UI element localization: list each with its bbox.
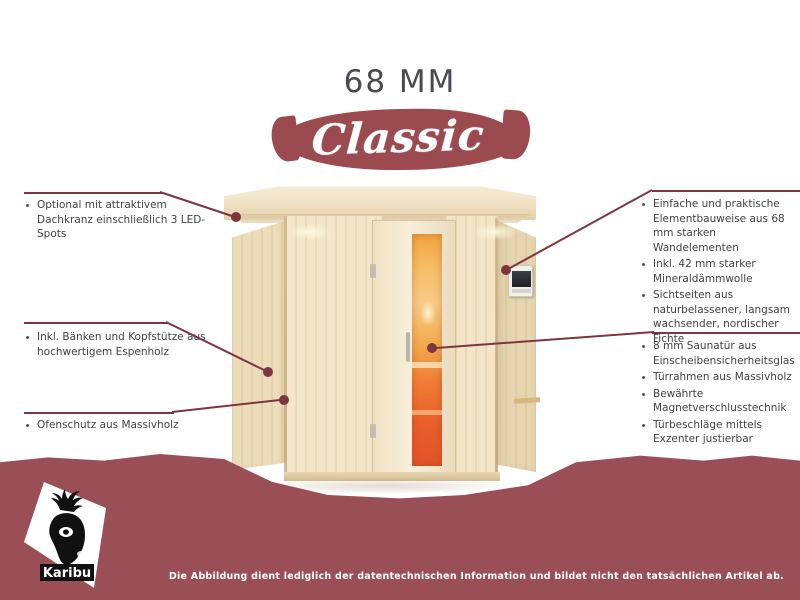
interior-bench-lower (412, 410, 442, 415)
bench-edge (514, 397, 540, 404)
led-spot-left (288, 224, 330, 240)
list-item: Inkl. Bänken und Kopfstütze aus hochwert… (24, 330, 210, 359)
annotation-group-right-1: Einfache und praktische Elementbauweise … (640, 197, 800, 348)
list-item: Türbeschläge mittels Exzenter justierbar (640, 418, 800, 447)
product-infographic: 68 MM Classic (0, 0, 800, 600)
door-hinge-top (370, 264, 376, 278)
karibu-logo: Karibu (14, 480, 110, 592)
interior-bench-upper (412, 362, 442, 368)
disclaimer-text: Die Abbildung dient lediglich der datent… (0, 571, 800, 582)
list-item: Einfache und praktische Elementbauweise … (640, 197, 800, 255)
annotation-list: 8 mm Saunatür aus Einscheibensicherheits… (640, 339, 800, 447)
brush-stroke-banner: Classic (281, 107, 518, 171)
annotation-list: Ofenschutz aus Massivholz (24, 418, 210, 433)
list-item: Optional mit attraktivem Dachkranz einsc… (24, 198, 210, 242)
leader-rule-left-3 (24, 412, 174, 414)
list-item: Bewährte Magnetverschlusstechnik (640, 387, 800, 416)
title-block: 68 MM Classic (0, 64, 800, 170)
door-handle (406, 332, 410, 362)
list-item: Inkl. 42 mm starker Mineraldämmwolle (640, 257, 800, 286)
annotation-list: Optional mit attraktivem Dachkranz einsc… (24, 198, 210, 242)
annotation-group-left-2: Inkl. Bänken und Kopfstütze aus hochwert… (24, 330, 210, 361)
list-item: 8 mm Saunatür aus Einscheibensicherheits… (640, 339, 800, 368)
door-hinge-bottom (370, 424, 376, 438)
annotation-group-left-3: Ofenschutz aus Massivholz (24, 418, 210, 435)
model-badge: Classic (282, 109, 518, 170)
annotation-group-left-1: Optional mit attraktivem Dachkranz einsc… (24, 198, 210, 244)
leader-line-right-1 (498, 186, 658, 276)
page-title-thickness: 68 MM (0, 64, 800, 100)
leader-rule-right-1 (652, 190, 800, 192)
list-item: Ofenschutz aus Massivholz (24, 418, 210, 433)
leader-rule-left-2 (24, 322, 168, 324)
leader-line-right-2 (424, 328, 660, 356)
leader-rule-left-1 (24, 192, 162, 194)
list-item: Sichtseiten aus naturbelassener, langsam… (640, 288, 800, 346)
deer-head-icon: Karibu (14, 480, 110, 592)
annotation-group-right-2: 8 mm Saunatür aus Einscheibensicherheits… (640, 339, 800, 449)
wall-front-left-panel (286, 216, 382, 478)
control-panel-buttons (512, 289, 531, 293)
model-name: Classic (310, 110, 486, 164)
annotation-list: Inkl. Bänken und Kopfstütze aus hochwert… (24, 330, 210, 359)
annotation-list: Einfache und praktische Elementbauweise … (640, 197, 800, 346)
logo-wordmark: Karibu (43, 566, 91, 581)
interior-light-glow (420, 300, 436, 326)
list-item: Türrahmen aus Massivholz (640, 370, 800, 385)
